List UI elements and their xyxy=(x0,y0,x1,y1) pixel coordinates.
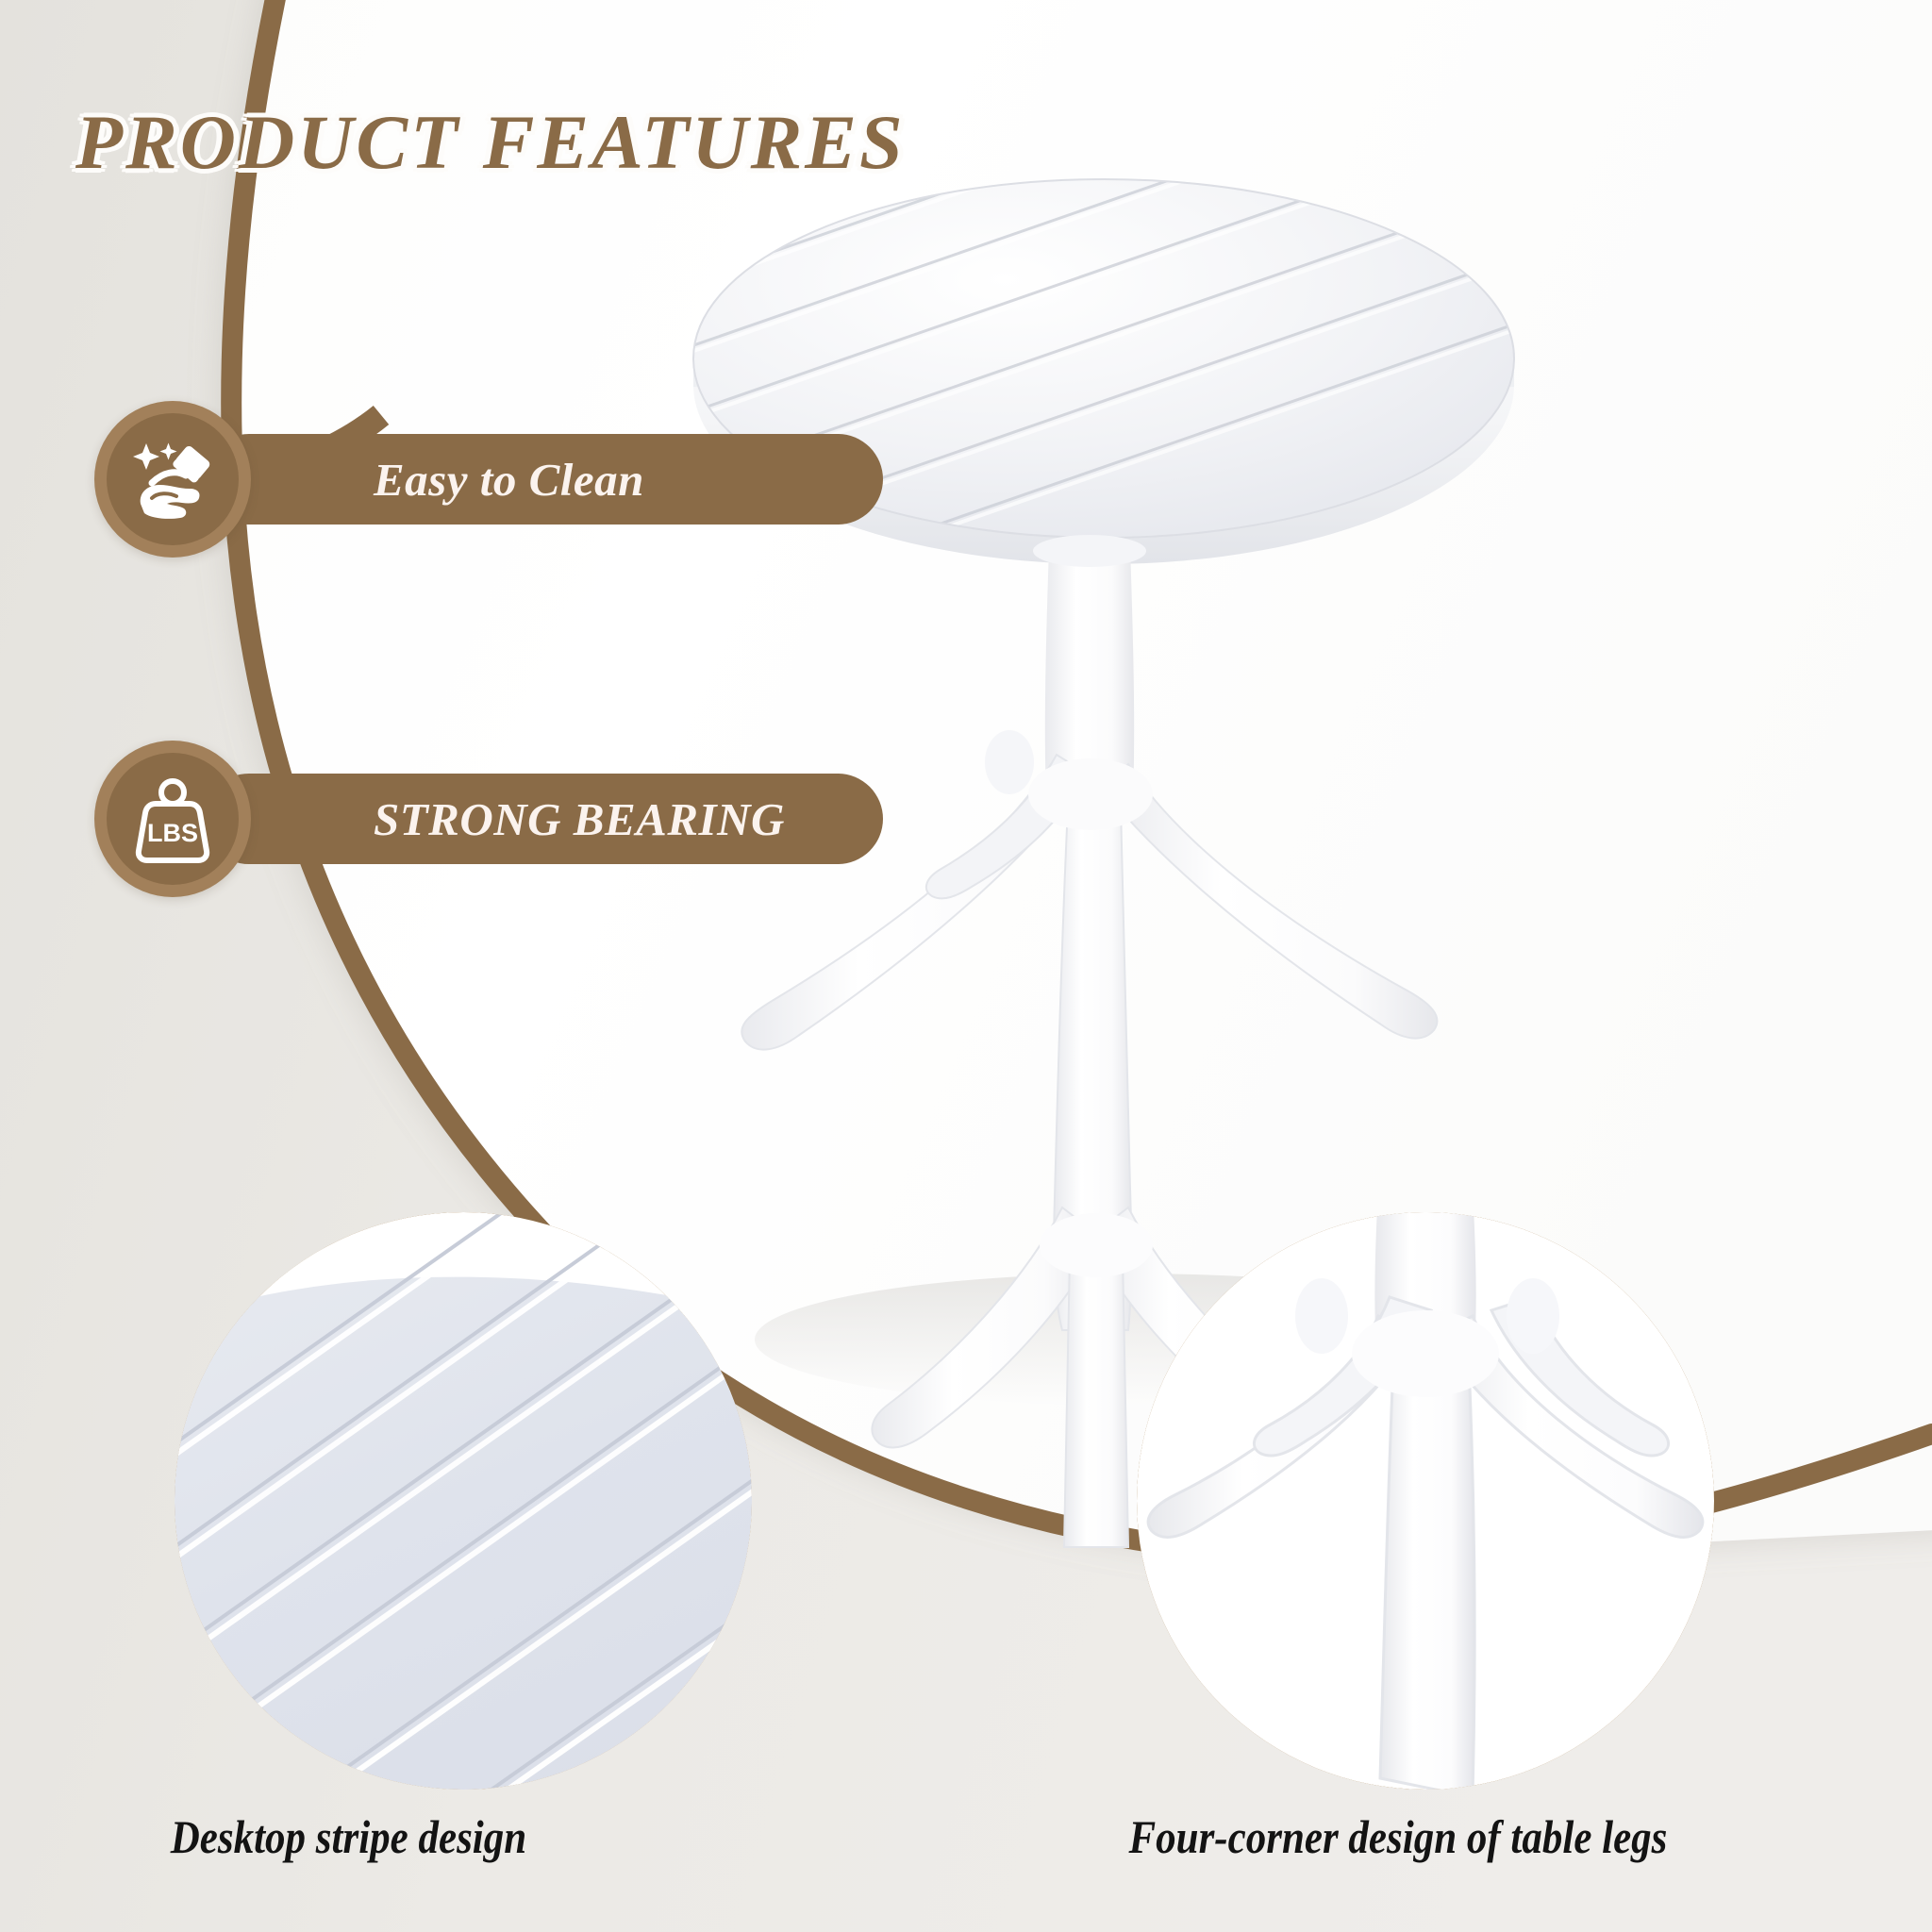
feature-badge-easy-to-clean[interactable]: Easy to Clean xyxy=(94,401,792,558)
detail-circle-table-legs[interactable] xyxy=(1137,1212,1714,1790)
feature-badge-strong-bearing[interactable]: STRONG BEARING LBS xyxy=(94,741,792,897)
detail-zoom-table-leg-junction xyxy=(1137,1212,1714,1790)
detail-caption-table-legs: Four-corner design of table legs xyxy=(1128,1809,1667,1864)
detail-caption-desktop-stripe: Desktop stripe design xyxy=(171,1809,526,1864)
feature-label-easy-to-clean: Easy to Clean xyxy=(374,453,644,507)
feature-disc-inner: LBS xyxy=(107,753,239,885)
page-title: PRODUCT FEATURES xyxy=(75,98,906,187)
infographic-stage: PRODUCT FEATURES Easy to Clean xyxy=(0,0,1932,1932)
feature-disc-strong-bearing[interactable]: LBS xyxy=(94,741,251,897)
sparkle-hand-wipe-icon xyxy=(124,430,222,528)
feature-pill-strong-bearing[interactable]: STRONG BEARING xyxy=(204,774,883,864)
feature-pill-easy-to-clean[interactable]: Easy to Clean xyxy=(204,434,883,525)
detail-zoom-table-top-slats xyxy=(175,1212,752,1790)
weight-icon-text: LBS xyxy=(147,819,198,847)
detail-circle-desktop-stripe[interactable] xyxy=(175,1212,752,1790)
weight-lbs-icon: LBS xyxy=(124,770,222,868)
feature-disc-inner xyxy=(107,413,239,545)
feature-label-strong-bearing: STRONG BEARING xyxy=(374,792,785,846)
feature-disc-easy-to-clean[interactable] xyxy=(94,401,251,558)
